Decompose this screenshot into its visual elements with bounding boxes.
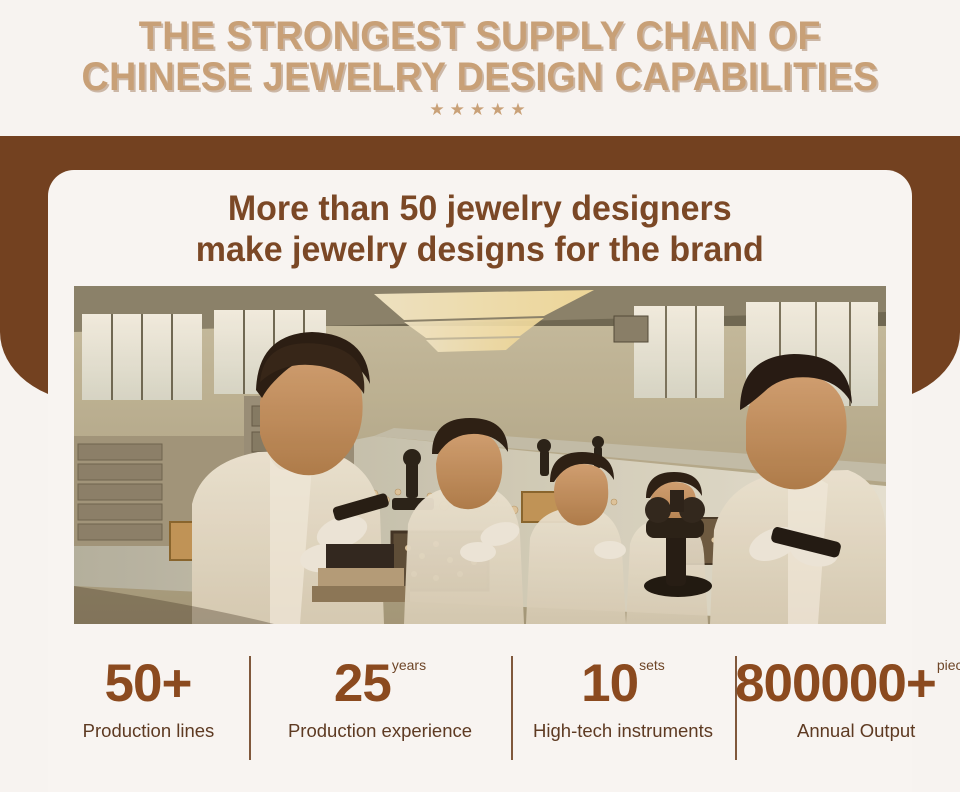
stats-row: 50+ Production lines 25 years Production… — [48, 652, 912, 774]
star-rating-icon: ★★★★★ — [429, 101, 530, 119]
stat-value-group: 10 sets — [581, 656, 665, 712]
stat-number: 10 — [581, 656, 638, 712]
stat-production-experience: 25 years Production experience — [249, 652, 511, 774]
card-headline-line-2: make jewelry designs for the brand — [196, 229, 764, 270]
stat-high-tech-instruments: 10 sets High-tech instruments — [511, 652, 735, 774]
page-header: THE STRONGEST SUPPLY CHAIN OF CHINESE JE… — [0, 0, 960, 136]
stat-unit: sets — [639, 657, 665, 673]
card-headline: More than 50 jewelry designers make jewe… — [196, 188, 764, 270]
stat-value-group: 25 years — [334, 656, 426, 712]
stat-unit: pieces — [937, 657, 960, 673]
stat-value-group: 800000+ pieces — [735, 656, 960, 712]
stat-number: 800000+ — [735, 656, 936, 712]
workshop-photo-graphic — [74, 286, 886, 624]
stat-caption: Production experience — [288, 720, 472, 742]
workshop-photo — [74, 286, 886, 624]
stat-number: 50+ — [105, 656, 192, 712]
stat-caption: Annual Output — [797, 720, 915, 742]
stat-annual-output: 800000+ pieces Annual Output — [735, 652, 960, 774]
page-title-line-2: CHINESE JEWELRY DESIGN CAPABILITIES — [81, 57, 878, 98]
card-headline-line-1: More than 50 jewelry designers — [196, 188, 764, 229]
stat-production-lines: 50+ Production lines — [48, 652, 249, 774]
page-title-line-1: THE STRONGEST SUPPLY CHAIN OF — [139, 16, 821, 57]
stat-caption: High-tech instruments — [533, 720, 713, 742]
stat-caption: Production lines — [83, 720, 215, 742]
stat-number: 25 — [334, 656, 391, 712]
content-card: More than 50 jewelry designers make jewe… — [48, 170, 912, 792]
stat-value-group: 50+ — [105, 656, 193, 712]
stat-unit: years — [392, 657, 426, 673]
